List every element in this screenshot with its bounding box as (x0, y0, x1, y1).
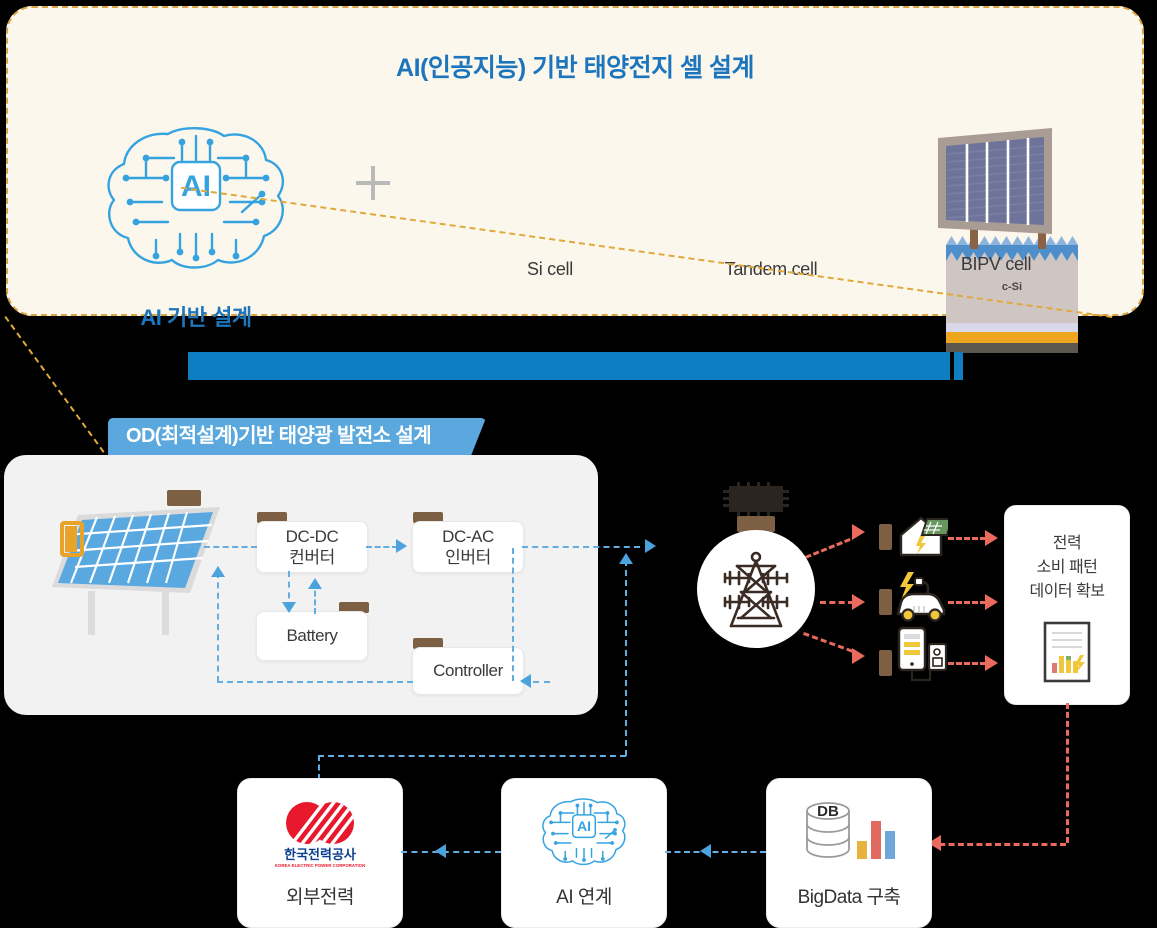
arrow-ai-to-kepco (435, 844, 446, 858)
card-bigdata-caption: BigData 구축 (767, 882, 931, 909)
wire-car-to-data (948, 601, 986, 604)
bipv-cell-caption: BIPV cell (916, 254, 1076, 275)
arrow-dcdc-to-dcac (396, 539, 407, 553)
wire-bigdata-to-ai (665, 851, 766, 853)
ai-design-item: AI AI 기반 설계 (96, 116, 296, 332)
si-cell-item: c-Si Si cell (470, 116, 630, 280)
arrow-phone-to-data (985, 655, 998, 671)
arrow-bottom-riser (619, 553, 633, 564)
arrow-dcdc-to-battery (282, 602, 296, 613)
ai-design-caption: AI 기반 설계 (96, 300, 296, 332)
wire-ai-to-kepco (401, 851, 501, 853)
data-card-title: 전력 소비 패턴 데이터 확보 (1005, 532, 1129, 604)
arrow-tower-phone (852, 648, 865, 664)
card-bigdata[interactable]: DB BigData 구축 (766, 778, 932, 928)
node-battery-label: Battery (286, 625, 337, 646)
wire-tower-car (820, 601, 854, 604)
node-controller[interactable]: Controller (412, 647, 524, 695)
arrow-battery-to-dcdc (308, 578, 322, 589)
ai-brain-icon: AI (537, 793, 631, 871)
solar-house-icon (898, 513, 948, 558)
transmission-tower-icon (697, 530, 815, 648)
kepco-logo-text-en: KOREA ELECTRIC POWER CORPORATION (275, 863, 366, 868)
power-consumption-data-card: 전력 소비 패턴 데이터 확보 (1004, 505, 1130, 705)
node-dcac-inverter[interactable]: DC-AC 인버터 (412, 521, 524, 573)
wire-house-to-data (948, 537, 986, 540)
wire-controller-to-left (217, 681, 413, 683)
arrow-house-to-data (985, 530, 998, 546)
progress-bar-notch (950, 352, 954, 380)
wire-data-down (1066, 703, 1069, 843)
svg-text:AI: AI (577, 818, 591, 834)
wire-data-to-bigdata (930, 843, 1066, 846)
page-title: AI(인공지능) 기반 태양전지 셀 설계 (8, 48, 1142, 84)
tandem-cell-item: Perovskite Interlayer c-Si Tandem cell (691, 116, 851, 280)
si-layer-lavender (946, 323, 1078, 332)
si-layer-dark (946, 343, 1078, 353)
arrow-tower-car (852, 594, 865, 610)
bipv-cell-icon (916, 116, 1076, 251)
wire-dcdc-to-dcac (366, 546, 398, 548)
wire-bottom-riser-h (318, 755, 626, 757)
wire-bottom-riser (625, 560, 627, 756)
data-card-line3: 데이터 확보 (1005, 580, 1129, 604)
si-layer-gold (946, 332, 1078, 343)
od-section-tag: OD(최적설계)기반 태양광 발전소 설계 (108, 418, 486, 456)
wire-phone-to-data (948, 662, 986, 665)
card-external-power-caption: 외부전력 (238, 882, 402, 909)
node-dcac-line2: 인버터 (442, 547, 494, 568)
plus-icon (356, 166, 390, 200)
solar-panel-tab (167, 490, 201, 506)
wire-panel-to-dcdc (185, 546, 257, 548)
solar-panel-icon (40, 495, 230, 635)
si-csi-label: c-Si (946, 281, 1078, 293)
node-dcdc-converter[interactable]: DC-DC 컨버터 (256, 521, 368, 573)
database-chart-icon: DB (797, 797, 901, 867)
db-label: DB (817, 803, 839, 820)
node-dcdc-line2: 컨버터 (286, 547, 339, 568)
card-external-power[interactable]: 한국전력공사 KOREA ELECTRIC POWER CORPORATION … (237, 778, 403, 928)
node-controller-label: Controller (433, 660, 503, 681)
node-dcac-line1: DC-AC (442, 526, 494, 547)
arrow-to-controller (520, 674, 531, 688)
diagram-root: AI(인공지능) 기반 태양전지 셀 설계 AI AI (0, 0, 1157, 920)
report-chart-icon (1042, 621, 1092, 683)
card-ai-link[interactable]: AI AI 연계 (501, 778, 667, 928)
phone-tab (879, 650, 892, 676)
arrow-to-grid (645, 539, 656, 553)
arrow-bigdata-to-ai (700, 844, 711, 858)
wire-left-riser (217, 572, 219, 682)
kepco-logo: 한국전력공사 KOREA ELECTRIC POWER CORPORATION (262, 797, 378, 869)
ai-cell-design-card: AI(인공지능) 기반 태양전지 셀 설계 AI AI (6, 6, 1144, 316)
arrow-car-to-data (985, 594, 998, 610)
node-dcdc-line1: DC-DC (286, 526, 339, 547)
house-tab (879, 524, 892, 550)
card-ai-link-caption: AI 연계 (502, 882, 666, 909)
data-card-line1: 전력 (1005, 532, 1129, 556)
wire-right-drop (512, 548, 514, 681)
transmission-tower-badge (697, 530, 815, 648)
arrow-tower-house (852, 524, 865, 540)
electric-car-icon (890, 570, 952, 626)
node-battery[interactable]: Battery (256, 611, 368, 661)
data-card-line2: 소비 패턴 (1005, 556, 1129, 580)
arrow-left-riser (211, 566, 225, 577)
chip-icon (723, 482, 789, 516)
wire-dcac-to-right (522, 546, 640, 548)
orange-connector-left (4, 316, 122, 477)
smartphone-charger-icon (895, 626, 949, 688)
progress-bar (188, 352, 963, 380)
bipv-cell-item: BIPV cell (916, 116, 1076, 275)
si-cell-caption: Si cell (470, 259, 630, 280)
kepco-logo-text-ko: 한국전력공사 (284, 847, 356, 862)
wire-bottom-riser-down (318, 755, 320, 780)
